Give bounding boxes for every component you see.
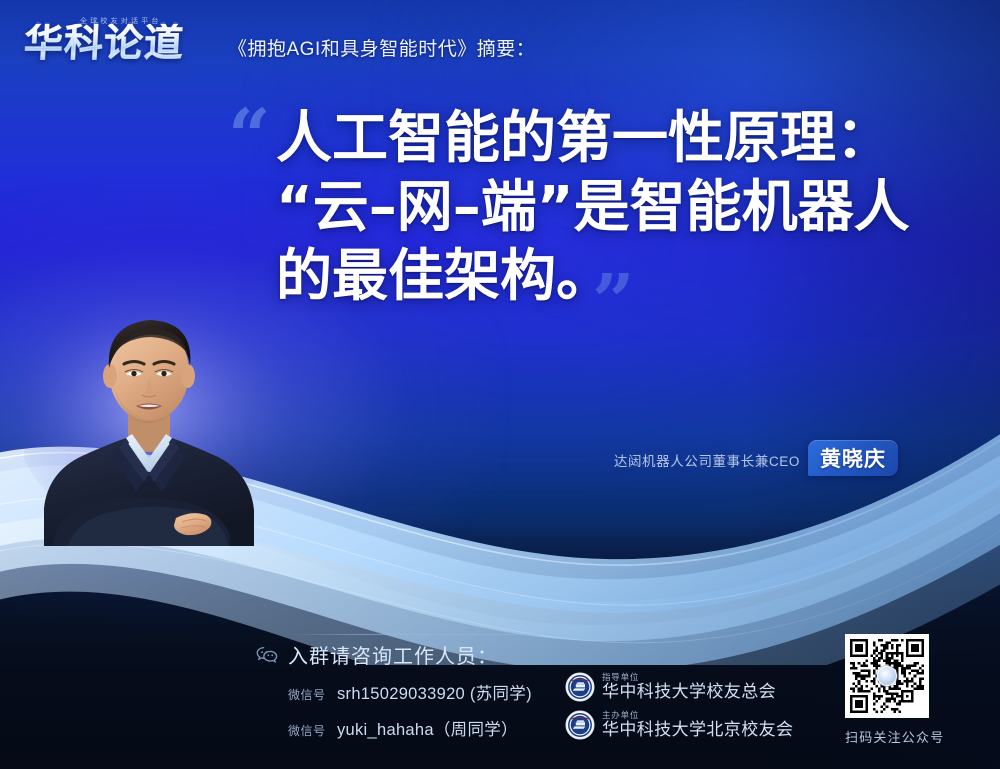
speaker-portrait-photo	[24, 296, 274, 546]
brand-logo[interactable]: 全球校友对话平台 华科论道	[24, 16, 220, 72]
quote-line-1: 人工智能的第一性原理：	[276, 104, 976, 173]
contact-label: 微信号	[288, 688, 326, 702]
poster-root: 全球校友对话平台 华科论道 《拥抱AGI和具身智能时代》摘要： “ 人工智能的第…	[0, 0, 1000, 769]
contact-row: 微信号 srh15029033920 (苏同学)	[288, 680, 532, 704]
organization-kind: 主办单位	[602, 711, 793, 720]
organization-row: 主办单位 华中科技大学北京校友会	[565, 710, 793, 740]
speaker-name: 黄晓庆	[820, 443, 886, 473]
organization-row: 指导单位 华中科技大学校友总会	[565, 672, 776, 702]
quote-close-mark: ”	[592, 265, 635, 339]
organization-name: 华中科技大学北京校友会	[602, 720, 793, 739]
contact-heading: 入群请咨询工作人员：	[288, 640, 498, 669]
qr-code-image[interactable]	[845, 634, 929, 718]
speaker-name-badge: 黄晓庆	[808, 440, 898, 476]
speaker-role-title: 达闼机器人公司董事长兼CEO	[614, 450, 800, 470]
university-seal-icon	[565, 672, 595, 702]
organization-name: 华中科技大学校友总会	[602, 682, 776, 701]
contact-row: 微信号 yuki_hahaha（周同学）	[288, 716, 518, 740]
qr-caption: 扫码关注公众号	[845, 727, 929, 746]
wechat-icon	[256, 646, 278, 664]
header: 全球校友对话平台 华科论道 《拥抱AGI和具身智能时代》摘要：	[0, 0, 1000, 88]
organization-kind: 指导单位	[602, 673, 776, 682]
contact-value[interactable]: yuki_hahaha（周同学）	[337, 721, 518, 739]
footer-divider	[288, 634, 688, 635]
contact-label: 微信号	[288, 724, 326, 738]
qr-center-logo-icon	[877, 666, 897, 686]
organization-text: 主办单位 华中科技大学北京校友会	[602, 711, 793, 740]
logo-wordmark: 华科论道	[23, 24, 185, 63]
page-title: 《拥抱AGI和具身智能时代》摘要：	[228, 34, 535, 61]
contact-value[interactable]: srh15029033920 (苏同学)	[337, 685, 532, 703]
quote-open-mark: “	[228, 100, 271, 174]
qr-code-block[interactable]: 扫码关注公众号	[845, 634, 929, 746]
university-seal-icon	[565, 710, 595, 740]
organization-text: 指导单位 华中科技大学校友总会	[602, 673, 776, 702]
quote-line-2: “云–网–端”是智能机器人	[276, 173, 976, 242]
